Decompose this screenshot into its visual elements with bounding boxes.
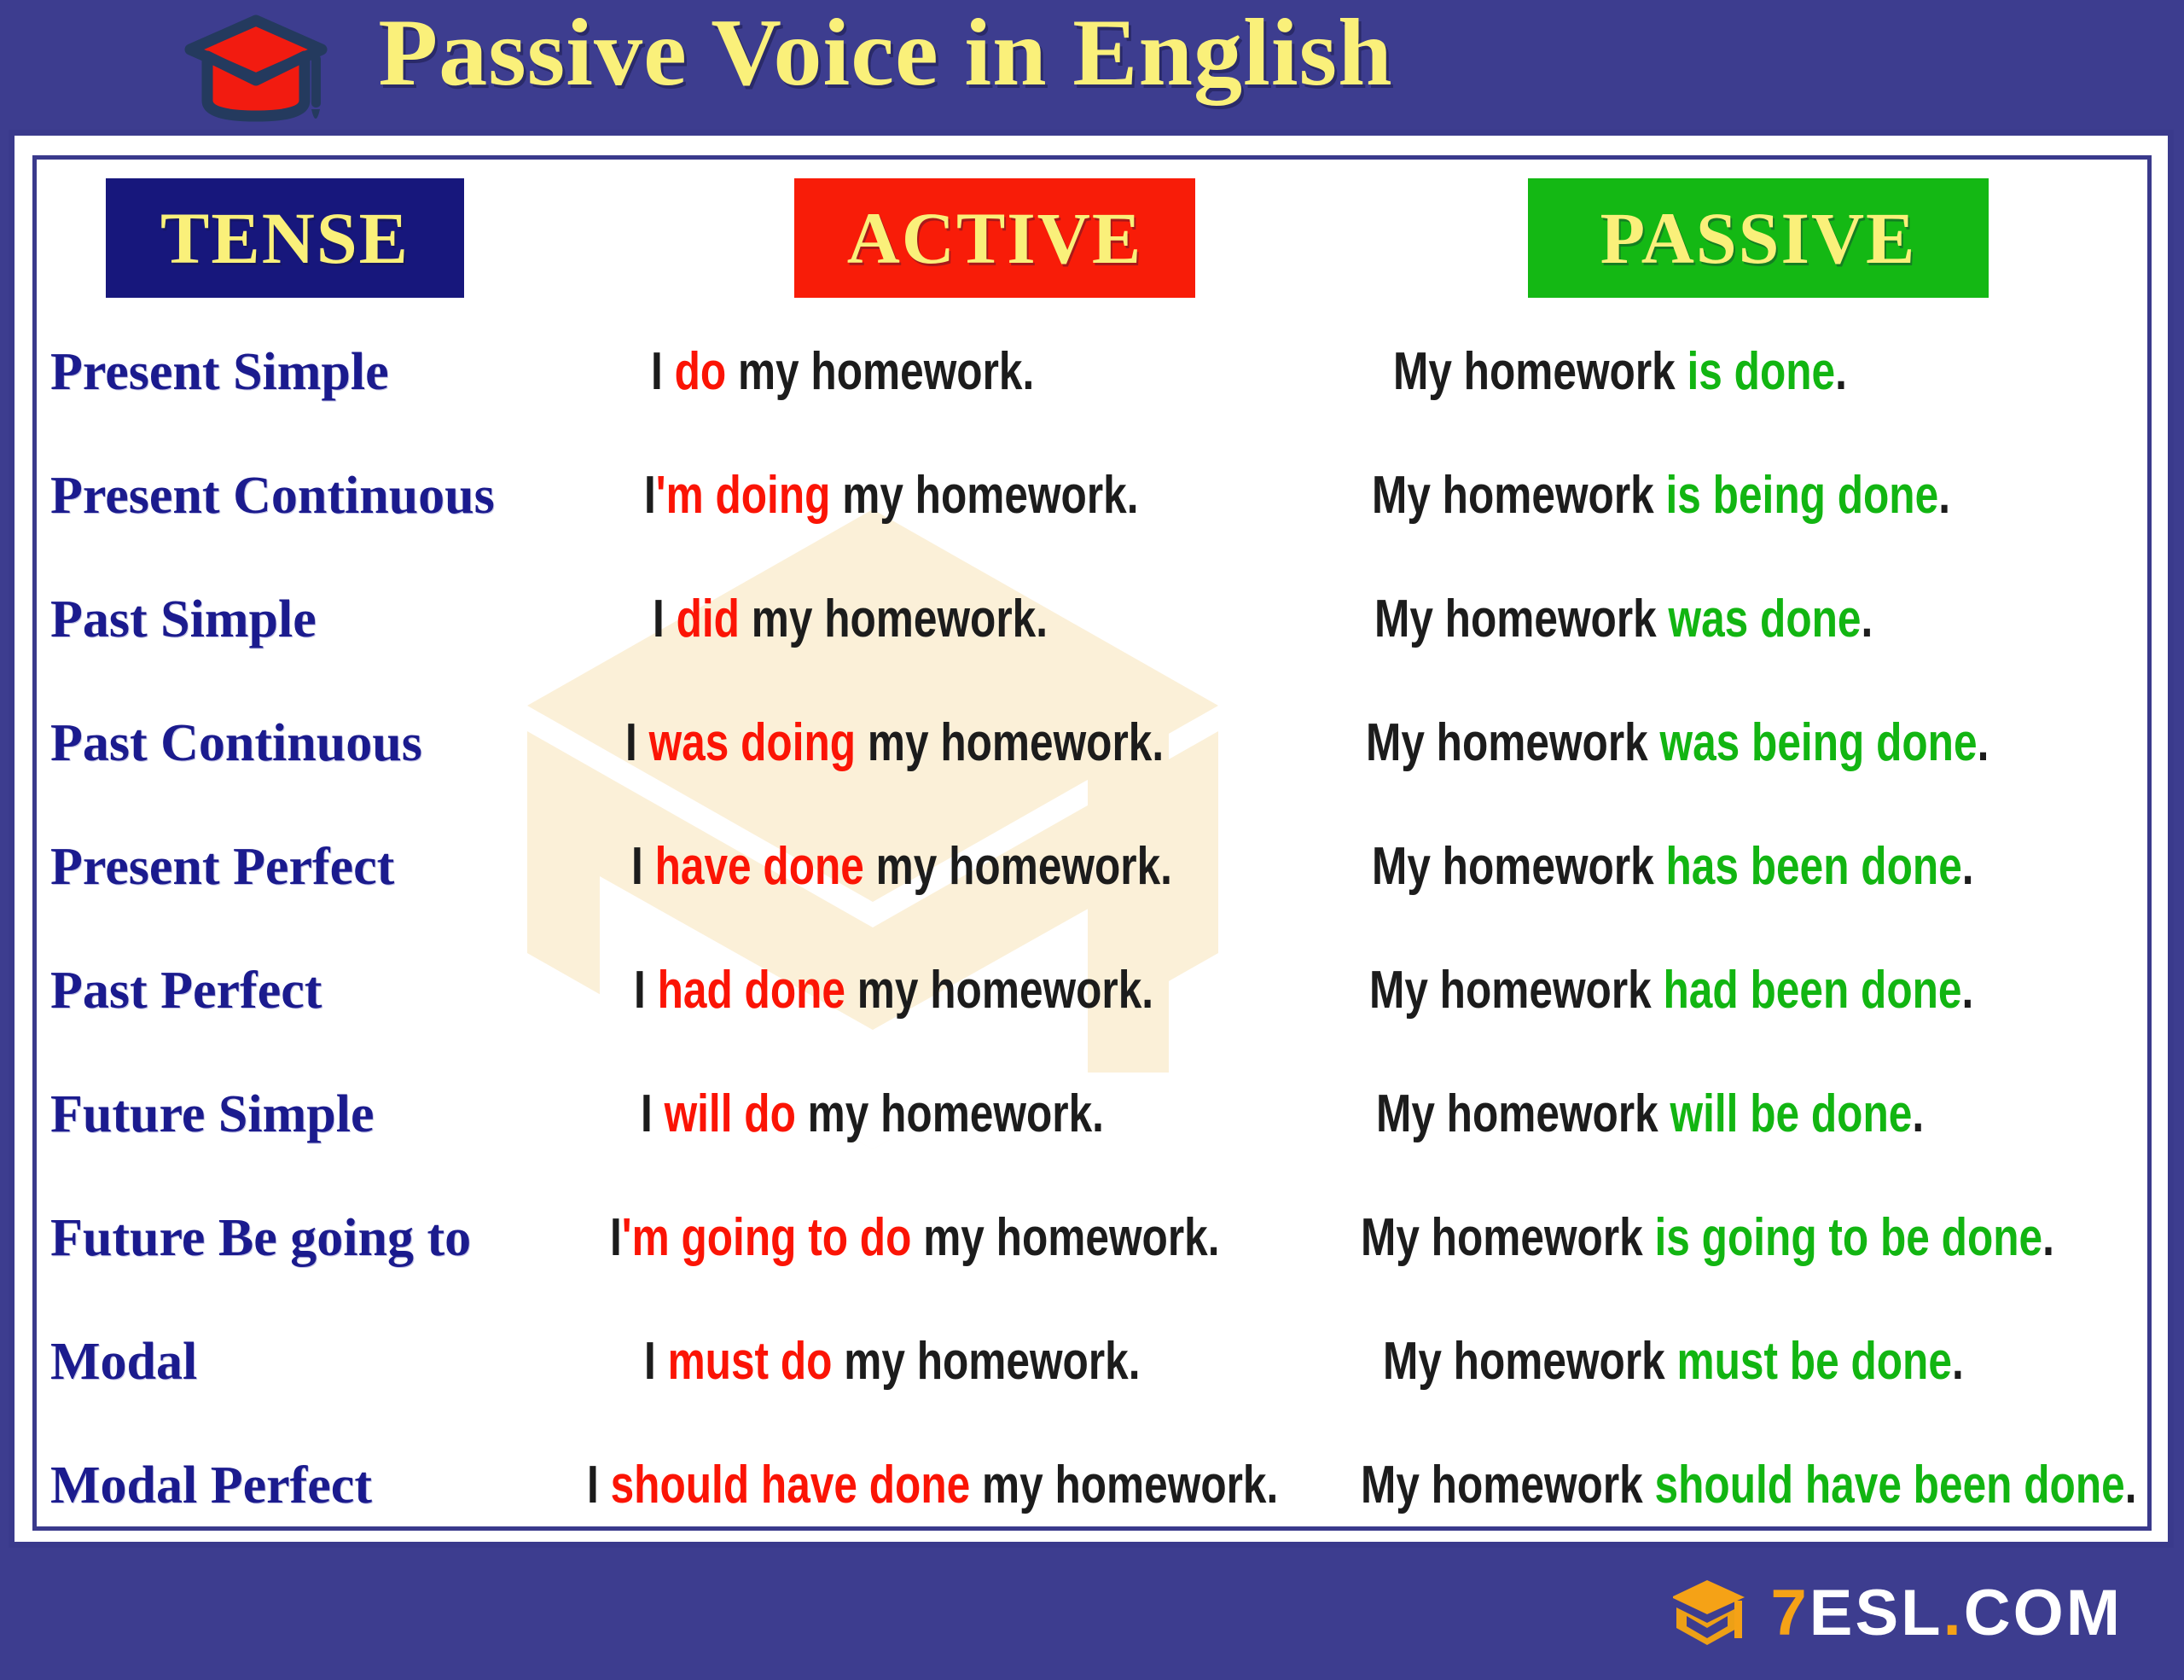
passive-highlight: has been done [1666, 837, 1962, 896]
passive-post: . [2125, 1456, 2137, 1514]
passive-post: . [1938, 466, 1950, 525]
passive-highlight: will be done [1670, 1084, 1913, 1143]
table-row: Present Continuous I'm doing my homework… [37, 433, 2152, 557]
active-pre: I [644, 1332, 668, 1391]
active-post: my homework. [796, 1084, 1104, 1143]
passive-highlight: is going to be done [1655, 1208, 2043, 1267]
passive-post: . [1912, 1084, 1924, 1143]
passive-pre: My homework [1369, 961, 1664, 1020]
active-pre: I [651, 342, 675, 401]
active-sentence: I did my homework. [653, 593, 1048, 646]
passive-pre: My homework [1366, 713, 1660, 772]
active-highlight: did [677, 590, 740, 648]
table-row: Past Perfect I had done my homework. My … [37, 928, 2152, 1052]
tense-label: Present Simple [50, 346, 389, 398]
active-post: my homework. [856, 713, 1164, 772]
content-frame: TENSE ACTIVE PASSIVE Present Simple I do… [32, 155, 2152, 1531]
brand-dot: . [1943, 1577, 1964, 1649]
table-row: Present Perfect I have done my homework.… [37, 805, 2152, 928]
passive-post: . [1962, 961, 1974, 1020]
active-sentence: I was doing my homework. [625, 717, 1164, 770]
page-title: Passive Voice in English [378, 5, 1392, 101]
active-sentence: I'm going to do my homework. [610, 1212, 1220, 1264]
active-sentence: I have done my homework. [631, 840, 1172, 893]
active-sentence: I do my homework. [651, 346, 1034, 398]
passive-pre: My homework [1393, 342, 1687, 401]
column-header-active: ACTIVE [794, 178, 1195, 298]
active-pre: I [631, 837, 655, 896]
active-sentence: I must do my homework. [644, 1335, 1141, 1388]
passive-pre: My homework [1383, 1332, 1677, 1391]
passive-sentence: My homework will be done. [1376, 1088, 1924, 1141]
brand-text: 7ESL.COM [1770, 1581, 2123, 1646]
active-pre: I [625, 713, 649, 772]
active-highlight: 'm going to do [622, 1208, 912, 1267]
passive-highlight: was being done [1660, 713, 1978, 772]
passive-sentence: My homework is going to be done. [1361, 1212, 2054, 1264]
active-highlight: must do [668, 1332, 833, 1391]
tense-label: Future Be going to [50, 1212, 471, 1264]
brand-tld: COM [1964, 1577, 2123, 1649]
active-highlight: do [675, 342, 727, 401]
tense-label: Past Continuous [50, 717, 422, 770]
active-highlight: have done [655, 837, 864, 896]
active-highlight: will do [665, 1084, 796, 1143]
active-pre: I [653, 590, 677, 648]
tense-label: Past Simple [50, 593, 317, 646]
active-pre: I [641, 1084, 665, 1143]
passive-highlight: is being done [1666, 466, 1939, 525]
poster-header: Passive Voice in English [0, 0, 2184, 130]
passive-post: . [1962, 837, 1974, 896]
passive-sentence: My homework was being done. [1366, 717, 1989, 770]
active-sentence: I should have done my homework. [587, 1459, 1278, 1512]
table-row: Present Simple I do my homework. My home… [37, 310, 2152, 433]
active-post: my homework. [740, 590, 1048, 648]
active-post: my homework. [911, 1208, 1219, 1267]
passive-post: . [1835, 342, 1847, 401]
passive-pre: My homework [1372, 837, 1666, 896]
passive-highlight: is done [1687, 342, 1836, 401]
active-highlight: had done [658, 961, 845, 1020]
tense-label: Modal [50, 1335, 197, 1388]
table-row: Future Be going to I'm going to do my ho… [37, 1176, 2152, 1299]
tense-table: Present Simple I do my homework. My home… [37, 310, 2152, 1531]
passive-pre: My homework [1372, 466, 1666, 525]
passive-post: . [1978, 713, 1989, 772]
passive-pre: My homework [1376, 1084, 1670, 1143]
brand-seven: 7 [1770, 1577, 1809, 1649]
passive-sentence: My homework has been done. [1372, 840, 1974, 893]
passive-highlight: should have been done [1655, 1456, 2125, 1514]
graduation-cap-icon [175, 5, 337, 133]
brand-logo[interactable]: 7ESL.COM [1673, 1577, 2123, 1650]
active-pre: I [634, 961, 658, 1020]
passive-post: . [1952, 1332, 1964, 1391]
passive-pre: My homework [1374, 590, 1669, 648]
table-row: Future Simple I will do my homework. My … [37, 1052, 2152, 1176]
tense-label: Future Simple [50, 1088, 374, 1141]
tense-label: Past Perfect [50, 964, 322, 1017]
passive-post: . [1862, 590, 1873, 648]
active-post: my homework. [726, 342, 1034, 401]
passive-post: . [2042, 1208, 2054, 1267]
active-pre: I [644, 466, 656, 525]
active-post: my homework. [832, 1332, 1140, 1391]
7esl-cap-logo-icon [1673, 1577, 1751, 1650]
passive-sentence: My homework should have been done. [1361, 1459, 2137, 1512]
passive-sentence: My homework is being done. [1372, 469, 1950, 522]
active-highlight: 'm doing [656, 466, 831, 525]
active-sentence: I will do my homework. [641, 1088, 1104, 1141]
tense-label: Present Continuous [50, 469, 495, 522]
passive-highlight: was done [1669, 590, 1862, 648]
tense-label: Present Perfect [50, 840, 394, 893]
table-row: Past Simple I did my homework. My homewo… [37, 557, 2152, 681]
active-pre: I [587, 1456, 611, 1514]
passive-sentence: My homework must be done. [1383, 1335, 1964, 1388]
active-post: my homework. [830, 466, 1138, 525]
active-highlight: was doing [649, 713, 857, 772]
table-row: Modal I must do my homework. My homework… [37, 1299, 2152, 1423]
passive-sentence: My homework is done. [1393, 346, 1847, 398]
table-row: Past Continuous I was doing my homework.… [37, 681, 2152, 805]
brand-rest: ESL [1809, 1577, 1943, 1649]
active-post: my homework. [970, 1456, 1278, 1514]
active-highlight: should have done [611, 1456, 971, 1514]
column-header-passive: PASSIVE [1528, 178, 1989, 298]
active-post: my homework. [845, 961, 1153, 1020]
passive-highlight: had been done [1664, 961, 1962, 1020]
table-row: Modal Perfect I should have done my home… [37, 1423, 2152, 1531]
active-post: my homework. [864, 837, 1172, 896]
passive-highlight: must be done [1677, 1332, 1952, 1391]
passive-pre: My homework [1361, 1456, 1655, 1514]
passive-sentence: My homework was done. [1374, 593, 1873, 646]
active-pre: I [610, 1208, 622, 1267]
active-sentence: I'm doing my homework. [644, 469, 1139, 522]
active-sentence: I had done my homework. [634, 964, 1153, 1017]
column-header-tense: TENSE [106, 178, 464, 298]
passive-sentence: My homework had been done. [1369, 964, 1973, 1017]
poster-footer: 7ESL.COM [0, 1548, 2184, 1680]
poster-root: Passive Voice in English TENSE ACTIVE PA… [0, 0, 2184, 1680]
passive-pre: My homework [1361, 1208, 1655, 1267]
tense-label: Modal Perfect [50, 1459, 372, 1512]
